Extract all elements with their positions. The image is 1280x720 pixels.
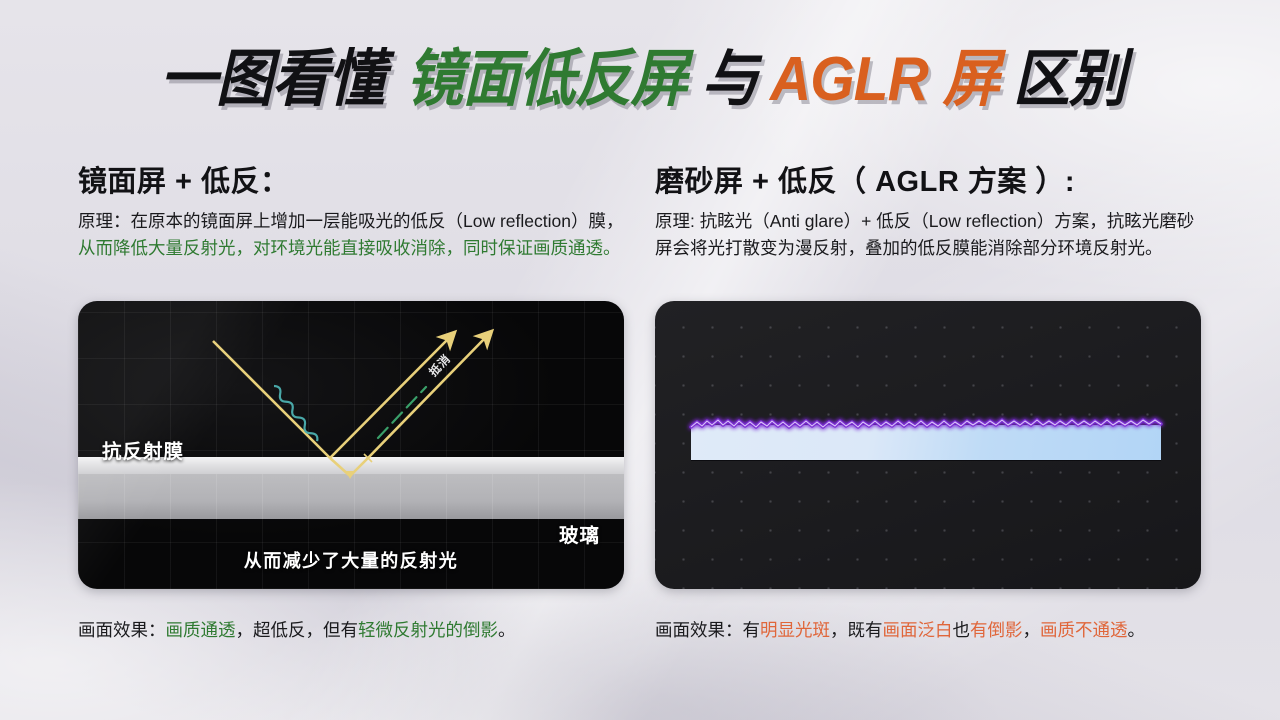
left-caption-part-5: 。	[498, 620, 516, 640]
title-segment-2: 镜面低反屏	[406, 48, 687, 112]
right-body-part-1: 原理: 抗眩光（Anti glare）+ 低反（Low reflection）方…	[655, 211, 1194, 258]
left-body-part-1: 原理：在原本的镜面屏上增加一层能吸光的低反（Low reflection）膜，	[78, 211, 623, 231]
right-caption-part-6: 有倒影	[970, 620, 1023, 640]
label-diagram-summary: 从而减少了大量的反射光	[78, 547, 624, 573]
right-caption: 画面效果：有明显光斑，既有画面泛白也有倒影，画质不通透。	[655, 618, 1215, 642]
right-caption-part-9: 。	[1128, 620, 1146, 640]
left-caption-part-3: ，超低反，但有	[236, 620, 359, 640]
reflected-ray-2	[368, 336, 487, 458]
rough-surface-svg	[685, 401, 1167, 437]
page-title: 一图看懂镜面低反屏与AGLR 屏区别	[0, 48, 1280, 112]
title-segment-5: 区别	[1013, 48, 1125, 112]
left-caption-part-1: 画面效果：	[78, 620, 166, 640]
left-body-text: 原理：在原本的镜面屏上增加一层能吸光的低反（Low reflection）膜，从…	[78, 208, 626, 262]
left-body-part-2: 从而降低大量反射光，对环境光能直接吸收消除，同时保证画质通透。	[78, 238, 621, 258]
incident-ray	[213, 341, 330, 458]
label-glass: 玻璃	[559, 519, 600, 548]
left-caption: 画面效果：画质通透，超低反，但有轻微反射光的倒影。	[78, 618, 638, 642]
title-segment-3: 与	[701, 48, 757, 112]
right-heading: 磨砂屏 + 低反（ AGLR 方案 ）:	[655, 158, 1075, 200]
right-caption-part-4: 画面泛白	[883, 620, 953, 640]
rough-surface-path	[691, 420, 1161, 427]
right-caption-part-2: 明显光斑	[760, 620, 830, 640]
ray-origin-tick	[364, 454, 372, 462]
left-caption-part-2: 画质通透	[166, 620, 236, 640]
right-caption-part-8: 画质不通透	[1040, 620, 1128, 640]
reflected-ray-1	[330, 337, 450, 458]
mirror-screen-diagram-panel: 抵消 抗反射膜 玻璃 从而减少了大量的反射光	[78, 301, 624, 589]
right-caption-part-7: ，	[1023, 620, 1041, 640]
right-caption-part-5: 也	[953, 620, 971, 640]
title-segment-1: 一图看懂	[159, 48, 383, 112]
right-caption-part-3: ，既有	[830, 620, 883, 640]
label-anti-reflection-film: 抗反射膜	[102, 435, 184, 464]
right-body-text: 原理: 抗眩光（Anti glare）+ 低反（Low reflection）方…	[655, 208, 1203, 262]
title-segment-4: AGLR 屏	[770, 48, 999, 112]
incoming-light-wave	[272, 384, 320, 443]
right-caption-part-1: 画面效果：有	[655, 620, 760, 640]
aglr-screen-diagram-panel	[655, 301, 1201, 589]
cancellation-line	[378, 387, 426, 438]
left-heading: 镜面屏 + 低反：	[78, 158, 290, 200]
left-caption-part-4: 轻微反射光的倒影	[358, 620, 498, 640]
